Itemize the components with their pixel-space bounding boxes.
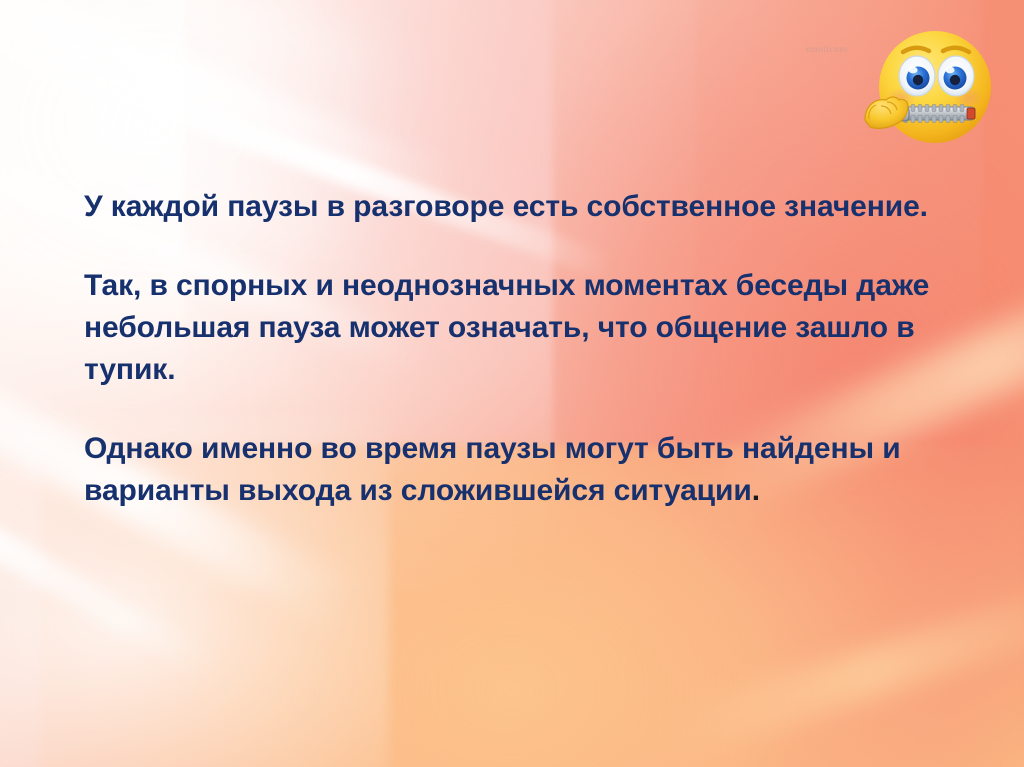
emoji-face <box>879 31 991 143</box>
emoji-zipper-stop <box>967 108 975 119</box>
paragraph-2: Так, в спорных и неоднозначных моментах … <box>84 265 940 391</box>
slide-body-text: У каждой паузы в разговоре есть собствен… <box>84 186 940 512</box>
paragraph-3-text: Однако именно во время паузы могут быть … <box>84 432 901 507</box>
emoji-eye-highlight-right <box>945 67 954 74</box>
paragraph-3-final-period: . <box>752 474 760 507</box>
presentation-slide: emoticons <box>0 0 1024 767</box>
emoji-watermark: emoticons <box>806 44 848 54</box>
zipper-mouth-face-emoji <box>863 24 999 154</box>
emoji-pupil-right <box>950 75 960 85</box>
emoji-eye-highlight-left <box>908 67 917 74</box>
paragraph-1: У каждой паузы в разговоре есть собствен… <box>84 186 940 228</box>
paragraph-3: Однако именно во время паузы могут быть … <box>84 428 940 512</box>
emoji-pupil-left <box>913 75 923 85</box>
